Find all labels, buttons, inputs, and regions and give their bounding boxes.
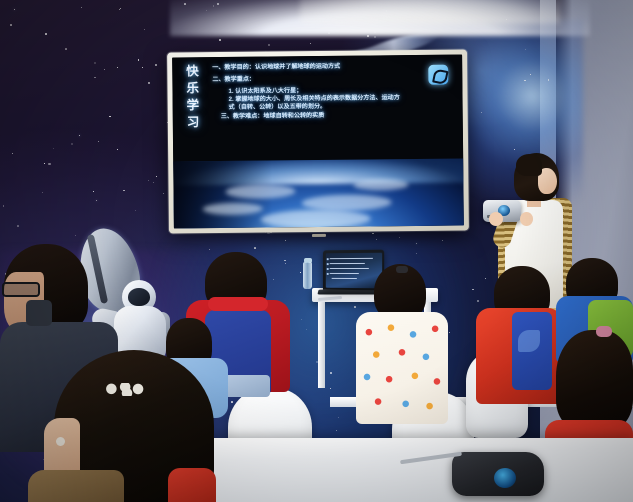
star: [45, 33, 47, 35]
eyeglasses-icon: [2, 282, 40, 297]
star: [209, 249, 210, 250]
star: [285, 240, 286, 241]
laptop-list-icon: [327, 258, 329, 260]
star: [219, 39, 221, 41]
front-desk: [188, 438, 633, 502]
earth-cloud: [226, 184, 296, 199]
presenter-hand-right: [520, 212, 533, 226]
star: [148, 180, 149, 181]
star: [104, 69, 105, 70]
star: [79, 135, 80, 136]
display-screen: 快 乐 学 习 一、教学目的：认识地球并了解地球的运动方式 二、教学重点： 1.…: [172, 54, 464, 228]
slide-body: 一、教学目的：认识地球并了解地球的运动方式 二、教学重点： 1. 认识太阳系及八…: [212, 62, 455, 121]
star: [330, 388, 331, 389]
star: [399, 237, 400, 238]
star: [117, 149, 118, 150]
slide-line-6: 三、教学难点：地球自转和公转的实质: [221, 110, 455, 120]
star: [254, 247, 256, 249]
star: [65, 48, 67, 50]
earth-cloud: [353, 179, 408, 191]
star: [10, 24, 12, 26]
jacket-graphic-icon: [518, 330, 540, 352]
ring-icon: [56, 437, 65, 446]
star: [156, 176, 157, 177]
screenshot-root: 快 乐 学 习 一、教学目的：认识地球并了解地球的运动方式 二、教学重点： 1.…: [0, 0, 633, 502]
banner-char-2: 乐: [186, 80, 208, 97]
laptop-screen-content: [325, 252, 381, 288]
star: [96, 200, 97, 201]
laptop-text-row: [329, 257, 372, 259]
star: [14, 9, 15, 10]
slide-line-1: 一、教学目的：认识地球并了解地球的运动方式: [212, 62, 454, 73]
star: [94, 62, 96, 64]
laptop-text-row: [329, 272, 358, 273]
wall-display[interactable]: 快 乐 学 习 一、教学目的：认识地球并了解地球的运动方式 二、教学重点： 1.…: [167, 49, 469, 233]
star: [44, 163, 45, 164]
star: [472, 289, 473, 290]
earth-cloud: [261, 209, 371, 228]
star: [142, 67, 143, 68]
hair-clip: [396, 266, 408, 273]
hair-tie: [596, 326, 612, 337]
laptop-text-row: [331, 277, 356, 279]
star: [93, 191, 94, 192]
star: [81, 7, 83, 9]
pearl-hair-clip: [104, 383, 150, 396]
presenter-hand-left: [489, 212, 503, 226]
star: [123, 190, 124, 191]
desk-leg: [318, 302, 325, 388]
star: [148, 82, 149, 83]
star: [449, 332, 450, 333]
student-collar: [208, 297, 268, 311]
star: [285, 263, 286, 264]
star: [300, 272, 301, 273]
earth-cloud: [301, 194, 391, 211]
laptop-list-icon: [327, 263, 329, 265]
slide-text-area: 快 乐 学 习 一、教学目的：认识地球并了解地球的运动方式 二、教学重点： 1.…: [172, 54, 463, 161]
star: [231, 401, 233, 403]
laptop-text-row: [329, 262, 364, 264]
star: [12, 153, 13, 154]
student-top-printed: [356, 312, 448, 424]
star: [310, 43, 311, 44]
star: [42, 192, 43, 193]
star: [273, 279, 274, 280]
laptop-list-icon: [327, 272, 329, 274]
star: [138, 59, 140, 61]
star: [135, 210, 136, 211]
star: [155, 64, 157, 66]
star: [94, 77, 96, 79]
slide-vertical-banner: 快 乐 学 习: [186, 63, 209, 131]
star: [477, 300, 479, 302]
star: [416, 243, 417, 244]
star: [98, 141, 99, 142]
star: [530, 74, 531, 75]
star: [119, 9, 120, 10]
vr-lens-icon: [494, 468, 516, 488]
star: [53, 148, 54, 149]
star: [153, 182, 154, 183]
star: [338, 417, 339, 418]
star: [163, 193, 164, 194]
star: [301, 319, 302, 320]
star: [374, 36, 376, 38]
star: [376, 239, 377, 240]
astronaut-visor: [128, 288, 150, 306]
star: [548, 79, 549, 80]
star: [3, 205, 5, 207]
ceiling-light-secondary: [300, 0, 560, 24]
star: [120, 8, 121, 9]
star: [144, 29, 146, 31]
banner-char-1: 快: [186, 63, 208, 80]
swirl-logo-icon: [428, 65, 448, 85]
laptop-text-row: [329, 267, 368, 268]
star: [48, 163, 50, 165]
star: [354, 306, 356, 308]
banner-char-4: 习: [187, 114, 209, 131]
star: [330, 372, 332, 374]
student-hair: [556, 330, 633, 430]
water-bottle: [303, 262, 312, 289]
star: [372, 233, 374, 235]
star: [109, 116, 111, 118]
star: [336, 430, 337, 431]
presenter-hair-fringe: [516, 154, 542, 176]
star: [306, 329, 307, 330]
slide-line-2: 二、教学重点：: [212, 73, 454, 84]
earth-photo: [173, 158, 464, 228]
star: [284, 260, 286, 262]
woman-coat: [28, 470, 124, 502]
star: [442, 240, 443, 241]
star: [514, 149, 515, 150]
star: [268, 44, 270, 46]
earth-cloud: [203, 202, 263, 215]
child-shoulder-red: [168, 468, 216, 502]
star: [17, 225, 19, 227]
star: [525, 49, 526, 50]
jacket-badge: [26, 300, 52, 326]
laptop-list-icon: [327, 268, 329, 270]
star: [416, 253, 417, 254]
star: [485, 278, 486, 279]
star: [524, 80, 526, 82]
star: [71, 143, 73, 145]
banner-char-3: 学: [187, 97, 209, 114]
star: [117, 67, 118, 68]
star: [481, 112, 482, 113]
